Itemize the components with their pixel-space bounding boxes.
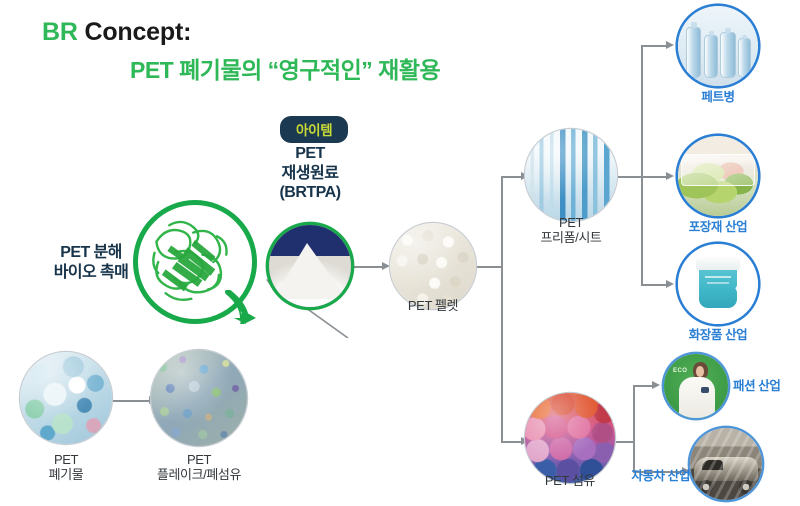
page-title: BR Concept: PET 폐기물의 “영구적인” 재활용: [42, 18, 440, 85]
connector-waste-to-flake: [113, 400, 151, 402]
node-pet-flake-label-line2: 플레이크/폐섬유: [133, 467, 265, 482]
connector-branch-to-bottle: [641, 45, 669, 47]
output-cosmetics-label: 화장품 산업: [668, 328, 768, 343]
node-pet-waste-label: PET 폐기물: [16, 452, 116, 483]
arrowhead-to-cosmetics: [666, 280, 674, 288]
node-pet-fiber-label-line1: PET 섬유: [520, 473, 620, 488]
node-pet-flake-label: PET 플레이크/폐섬유: [133, 452, 265, 483]
fashion-eco-text: ECO: [673, 368, 688, 374]
arrowhead-to-bottle: [666, 41, 674, 49]
brtpa-label-line1: PET: [250, 144, 370, 164]
node-pet-preform-label-line1: PET: [512, 215, 630, 230]
connector-preform-stub: [615, 176, 643, 178]
node-pet-pellet-label-line1: PET 펠렛: [383, 298, 483, 313]
white-powder-icon: [269, 225, 351, 307]
connector-branch-to-packaging: [641, 176, 669, 178]
arrowhead-to-packaging: [666, 172, 674, 180]
arrowhead-brtpa-to-pellet: [382, 262, 390, 270]
enzyme-arrow-tail-icon: [224, 290, 264, 324]
brtpa-label: PET 재생원료 (BRTPA): [250, 144, 370, 203]
pet-pellet-icon: [390, 223, 476, 309]
connector-lower-branch-trunk: [633, 385, 635, 472]
arrowhead-to-fashion: [652, 381, 660, 389]
connector-upper-branch-trunk: [641, 45, 643, 285]
eco-jacket-icon: ECO: [664, 354, 728, 418]
cosmetic-jar-icon: [678, 244, 758, 324]
node-pet-waste-label-line1: PET: [16, 452, 116, 467]
output-bottle-label: 페트병: [676, 90, 760, 105]
car-chassis-icon: [690, 428, 762, 500]
title-br-accent: BR: [42, 18, 78, 46]
connector-brtpa-to-pellet: [347, 266, 384, 268]
pet-preform-icon: [525, 129, 617, 221]
connector-main-trunk: [501, 176, 503, 442]
output-fashion-label: 패션 산업: [733, 379, 795, 394]
salad-pack-icon: [678, 136, 758, 216]
brtpa-label-line3: (BRTPA): [250, 183, 370, 203]
node-pet-preform-label-line2: 프리폼/시트: [512, 230, 630, 245]
node-pet-pellet-label: PET 펠렛: [383, 298, 483, 313]
node-pet-preform-label: PET 프리폼/시트: [512, 215, 630, 246]
pet-fiber-yarn-icon: [525, 393, 615, 483]
pet-flakes-icon: [151, 350, 247, 446]
item-badge: 아이템: [280, 116, 348, 143]
connector-branch-to-cosmetics: [641, 284, 669, 286]
connector-fiber-stub: [613, 441, 635, 443]
pet-waste-bottles-icon: [20, 352, 112, 444]
output-packaging-label: 포장재 산업: [668, 220, 768, 235]
node-pet-fiber-label: PET 섬유: [520, 473, 620, 488]
node-pet-flake-label-line1: PET: [133, 452, 265, 467]
water-bottles-icon: [678, 6, 758, 86]
diagram-canvas: BR Concept: PET 폐기물의 “영구적인” 재활용: [0, 0, 800, 506]
title-concept-text: Concept:: [78, 18, 191, 46]
title-line-1: BR Concept:: [42, 18, 440, 47]
node-pet-waste-label-line2: 폐기물: [16, 467, 116, 482]
title-line-2: PET 폐기물의 “영구적인” 재활용: [130, 51, 440, 85]
output-automotive-label: 자동차 산업: [620, 469, 690, 484]
brtpa-label-line2: 재생원료: [250, 164, 370, 184]
